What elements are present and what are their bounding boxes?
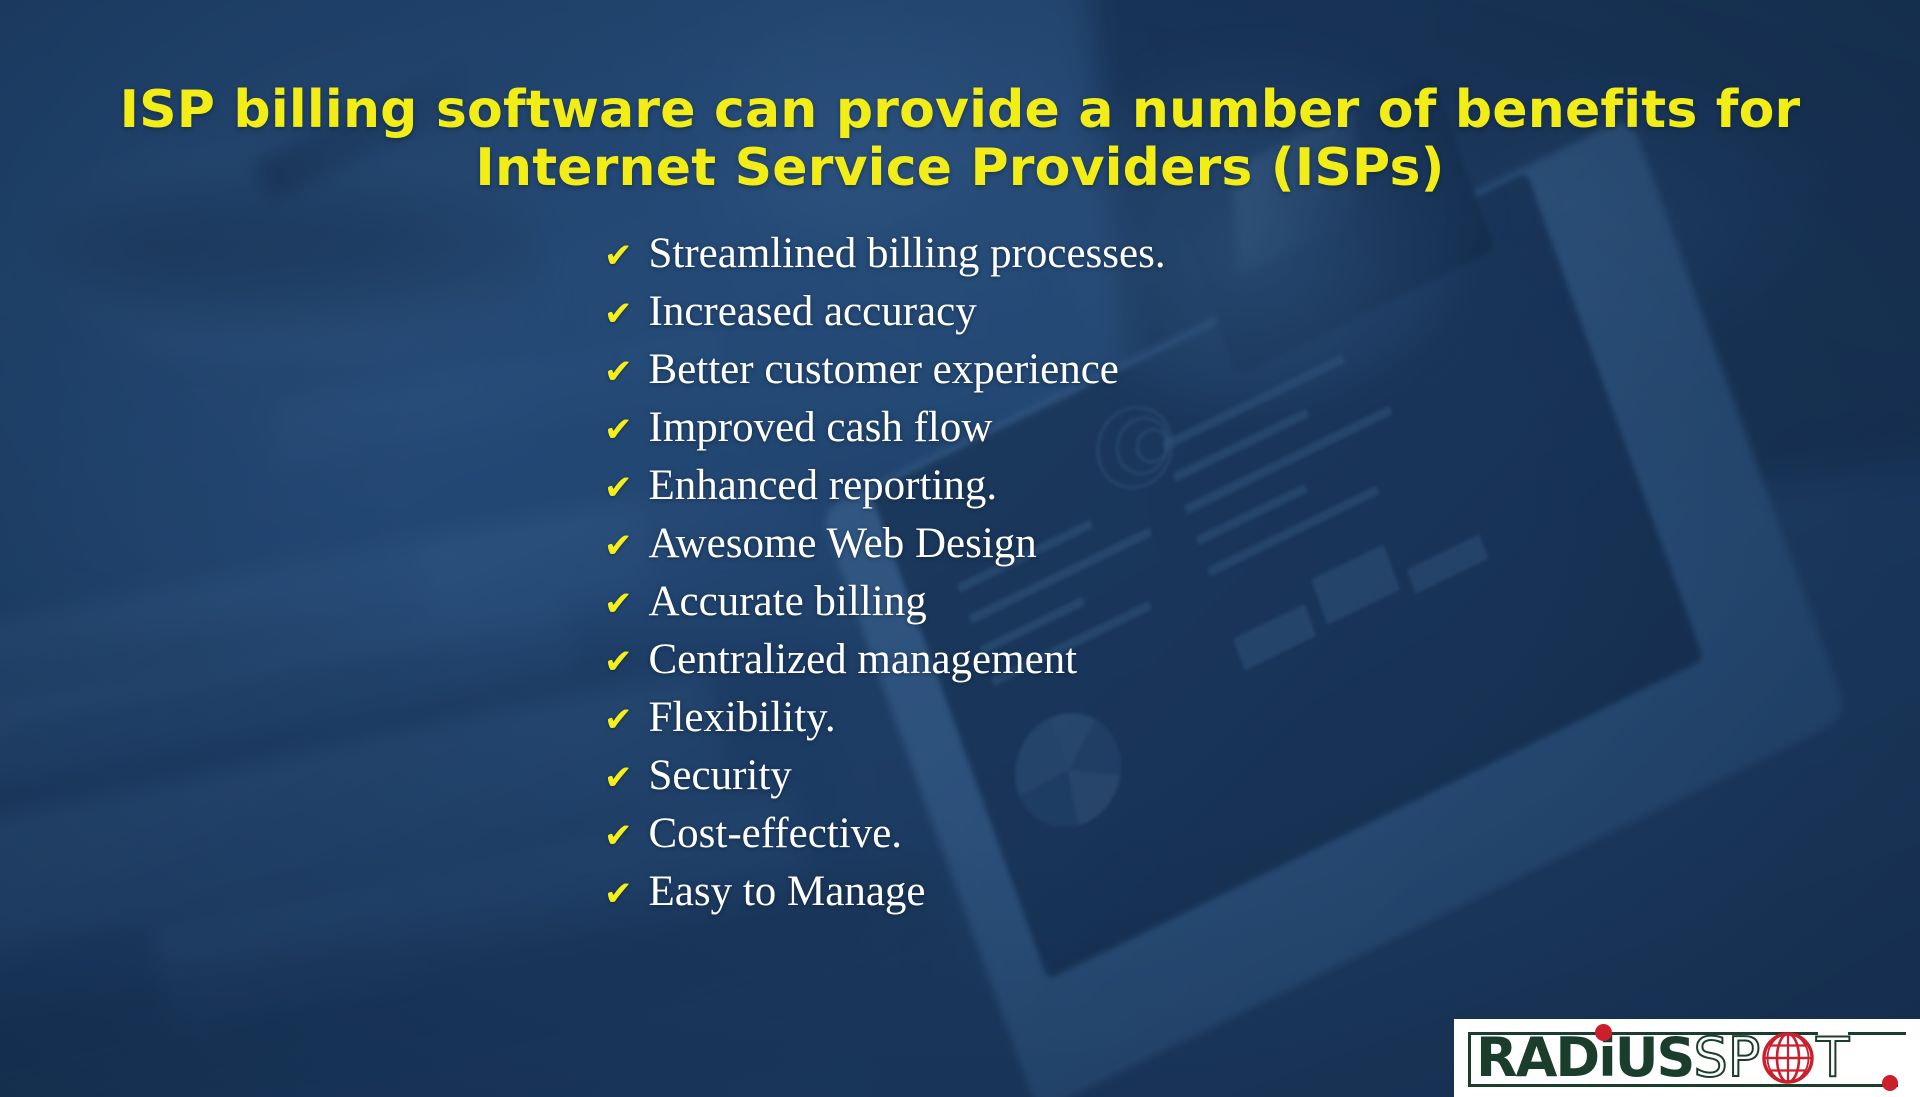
benefit-item: ✔Centralized management [604,638,1584,696]
check-icon: ✔ [604,529,633,563]
logo-wordmark: RADiUS SP T [1476,1030,1849,1085]
benefit-item: ✔Security [604,754,1584,812]
benefit-label: Easy to Manage [649,870,926,913]
benefit-label: Streamlined billing processes. [649,232,1166,275]
check-icon: ✔ [604,703,633,737]
radiusspot-logo[interactable]: RADiUS SP T [1454,1019,1920,1097]
slide-title: ISP billing software can provide a numbe… [0,81,1920,197]
benefit-item: ✔Awesome Web Design [604,522,1584,580]
logo-rule-top-right [1848,1032,1906,1035]
benefit-item: ✔Improved cash flow [604,406,1584,464]
benefit-label: Flexibility. [649,696,836,739]
benefit-item: ✔Better customer experience [604,348,1584,406]
logo-text-sp: SP [1693,1031,1760,1085]
benefit-item: ✔Streamlined billing processes. [604,232,1584,290]
benefit-label: Centralized management [649,638,1078,681]
check-icon: ✔ [604,587,633,621]
check-icon: ✔ [604,819,633,853]
benefit-label: Increased accuracy [649,290,977,333]
benefit-label: Cost-effective. [649,812,903,855]
check-icon: ✔ [604,413,633,447]
benefit-label: Better customer experience [649,348,1119,391]
benefit-item: ✔Enhanced reporting. [604,464,1584,522]
title-line-1: ISP billing software can provide a numbe… [80,81,1840,139]
benefit-item: ✔Flexibility. [604,696,1584,754]
check-icon: ✔ [604,239,633,273]
logo-text-t: T [1816,1031,1849,1085]
logo-red-dot-i [1595,1024,1612,1041]
check-icon: ✔ [604,645,633,679]
globe-icon [1761,1031,1815,1085]
benefit-label: Improved cash flow [649,406,993,449]
logo-inner: RADiUS SP T [1464,1026,1910,1089]
benefit-label: Enhanced reporting. [649,464,998,507]
benefit-item: ✔Cost-effective. [604,812,1584,870]
logo-red-dot-bottom-right [1882,1075,1898,1091]
slide-canvas: ISP billing software can provide a numbe… [0,0,1920,1097]
slide-content: ISP billing software can provide a numbe… [0,0,1920,1097]
benefits-list: ✔Streamlined billing processes.✔Increase… [604,232,1584,928]
benefit-label: Accurate billing [649,580,927,623]
logo-text-radius: RADiUS [1476,1031,1693,1085]
check-icon: ✔ [604,355,633,389]
check-icon: ✔ [604,877,633,911]
check-icon: ✔ [604,761,633,795]
title-line-2: Internet Service Providers (ISPs) [80,139,1840,197]
benefit-item: ✔Increased accuracy [604,290,1584,348]
logo-rule-left [1468,1032,1471,1087]
benefit-label: Security [649,754,792,797]
benefit-item: ✔Accurate billing [604,580,1584,638]
benefit-item: ✔Easy to Manage [604,870,1584,928]
benefit-label: Awesome Web Design [649,522,1037,565]
check-icon: ✔ [604,471,633,505]
check-icon: ✔ [604,297,633,331]
